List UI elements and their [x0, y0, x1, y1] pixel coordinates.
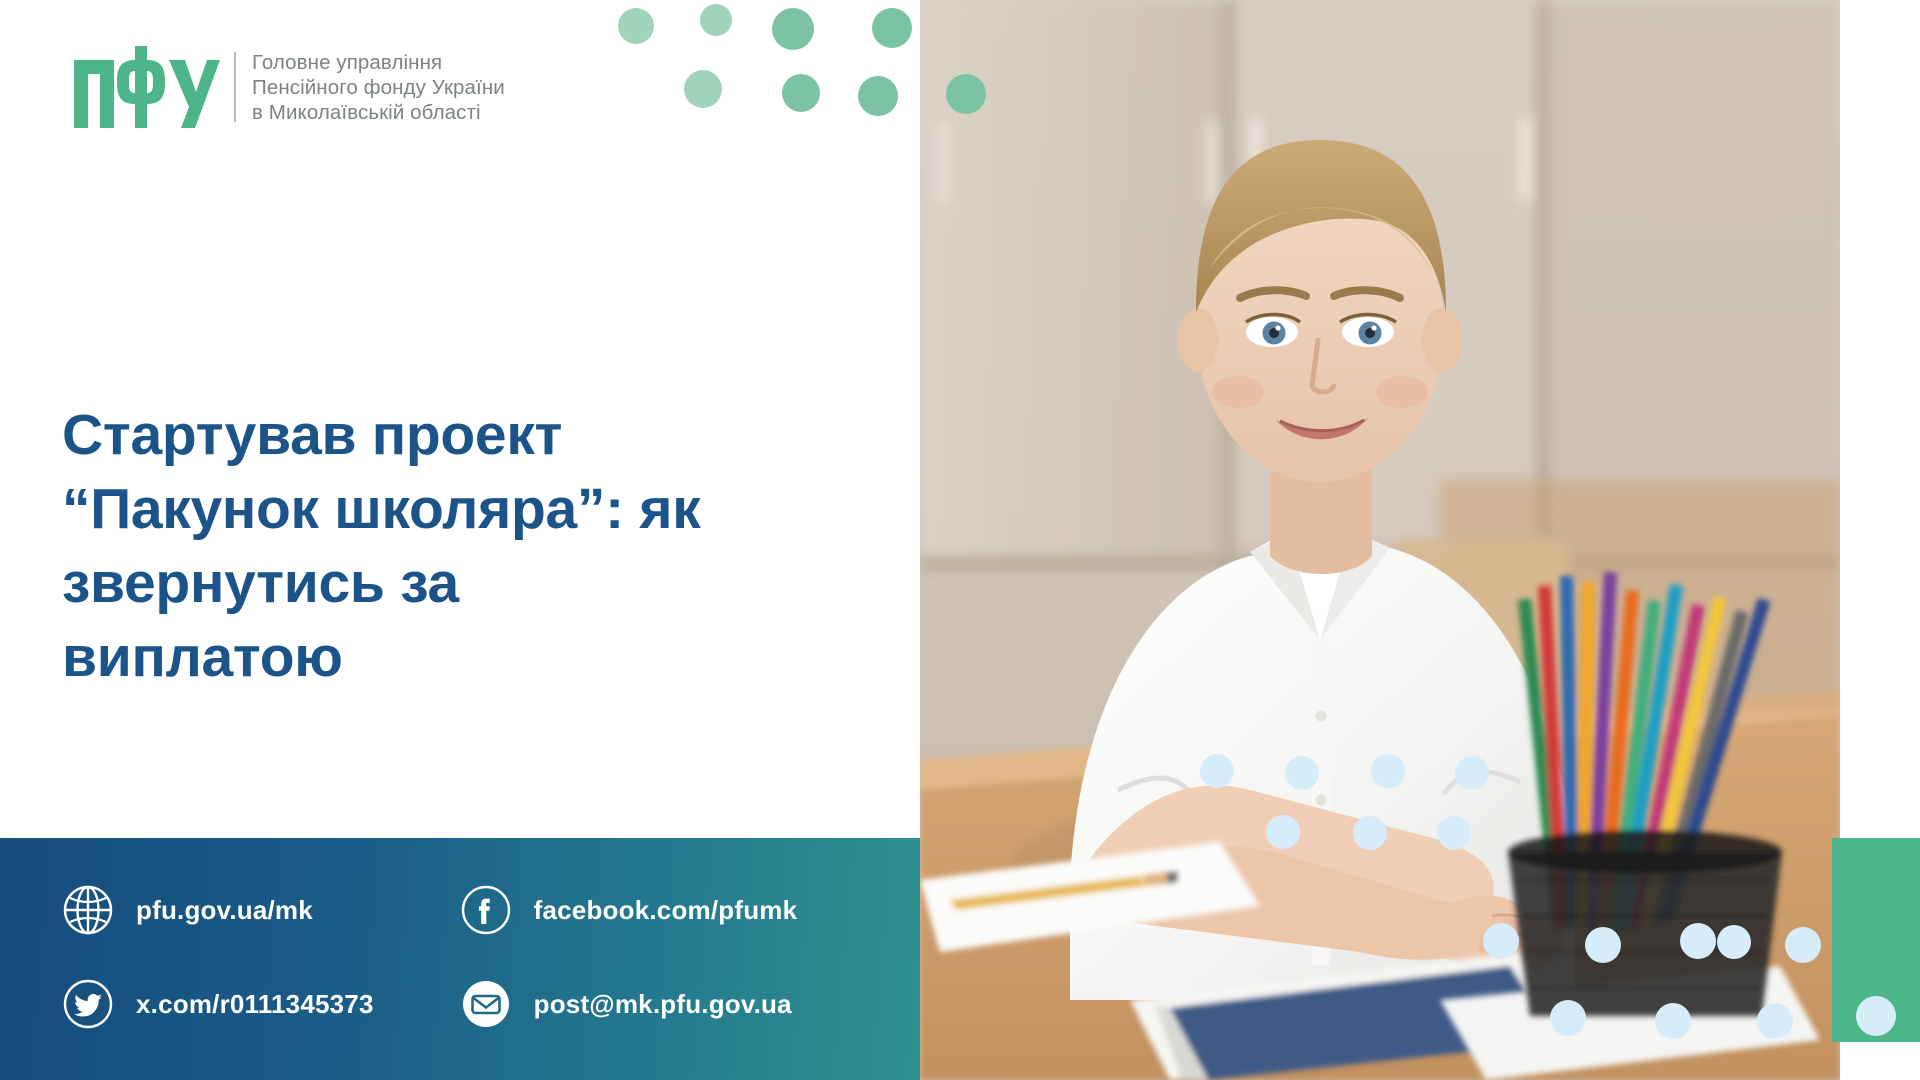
contact-email[interactable]: post@mk.pfu.gov.ua: [460, 978, 798, 1030]
decor-dot-blue: [1785, 927, 1821, 963]
announcement-banner: Головне управління Пенсійного фонду Укра…: [0, 0, 1920, 1080]
decor-dot-green: [618, 8, 654, 44]
contact-facebook[interactable]: facebook.com/pfumk: [460, 884, 798, 936]
decor-dot-blue: [1856, 996, 1896, 1036]
headline-title: Стартував проект “Пакунок школяра”: як з…: [62, 398, 702, 694]
contact-website-label: pfu.gov.ua/mk: [136, 895, 313, 926]
globe-icon: [62, 884, 114, 936]
contact-email-label: post@mk.pfu.gov.ua: [534, 989, 792, 1020]
photo-schoolboy: [920, 0, 1840, 1080]
decor-dot-green: [872, 8, 912, 48]
contact-website[interactable]: pfu.gov.ua/mk: [62, 884, 374, 936]
contact-facebook-label: facebook.com/pfumk: [534, 895, 798, 926]
facebook-icon: [460, 884, 512, 936]
org-name-line-2: Пенсійного фонду України: [252, 75, 505, 100]
footer-column-left: pfu.gov.ua/mk x.com/r0111345373: [62, 884, 374, 1030]
pfu-logo: Головне управління Пенсійного фонду Укра…: [72, 46, 505, 128]
decor-dot-blue: [1371, 754, 1405, 788]
decor-dot-blue: [1717, 925, 1751, 959]
org-name-block: Головне управління Пенсійного фонду Укра…: [252, 46, 505, 128]
contact-twitter-label: x.com/r0111345373: [136, 989, 374, 1020]
decor-dot-blue: [1455, 756, 1489, 790]
decor-dot-blue: [1550, 1000, 1586, 1036]
decor-dot-blue: [1757, 1003, 1793, 1039]
org-name-line-3: в Миколаївській області: [252, 100, 505, 125]
org-name-line-1: Головне управління: [252, 50, 505, 75]
decor-dot-green: [684, 70, 722, 108]
decor-dot-green: [946, 74, 986, 114]
decor-dot-blue: [1655, 1003, 1691, 1039]
twitter-icon: [62, 978, 114, 1030]
decor-dot-green: [782, 74, 820, 112]
footer-column-right: facebook.com/pfumk post@mk.pfu.gov.ua: [460, 884, 798, 1030]
decor-dot-blue: [1483, 923, 1519, 959]
contact-twitter[interactable]: x.com/r0111345373: [62, 978, 374, 1030]
decor-dot-blue: [1266, 815, 1300, 849]
email-icon: [460, 978, 512, 1030]
pfu-logo-mark-icon: [72, 46, 220, 128]
decor-dot-blue: [1437, 816, 1471, 850]
decor-dot-green: [772, 8, 814, 50]
decor-dot-green: [858, 76, 898, 116]
footer-contact-bar: pfu.gov.ua/mk x.com/r0111345373 facebook…: [0, 838, 920, 1080]
logo-divider: [234, 52, 236, 122]
photo-illustration: [920, 0, 1840, 1080]
decor-dot-green: [700, 4, 732, 36]
decor-dot-blue: [1285, 756, 1319, 790]
decor-dot-blue: [1200, 754, 1234, 788]
decor-dot-blue: [1680, 923, 1716, 959]
decor-dot-blue: [1353, 816, 1387, 850]
decor-dot-blue: [1585, 927, 1621, 963]
